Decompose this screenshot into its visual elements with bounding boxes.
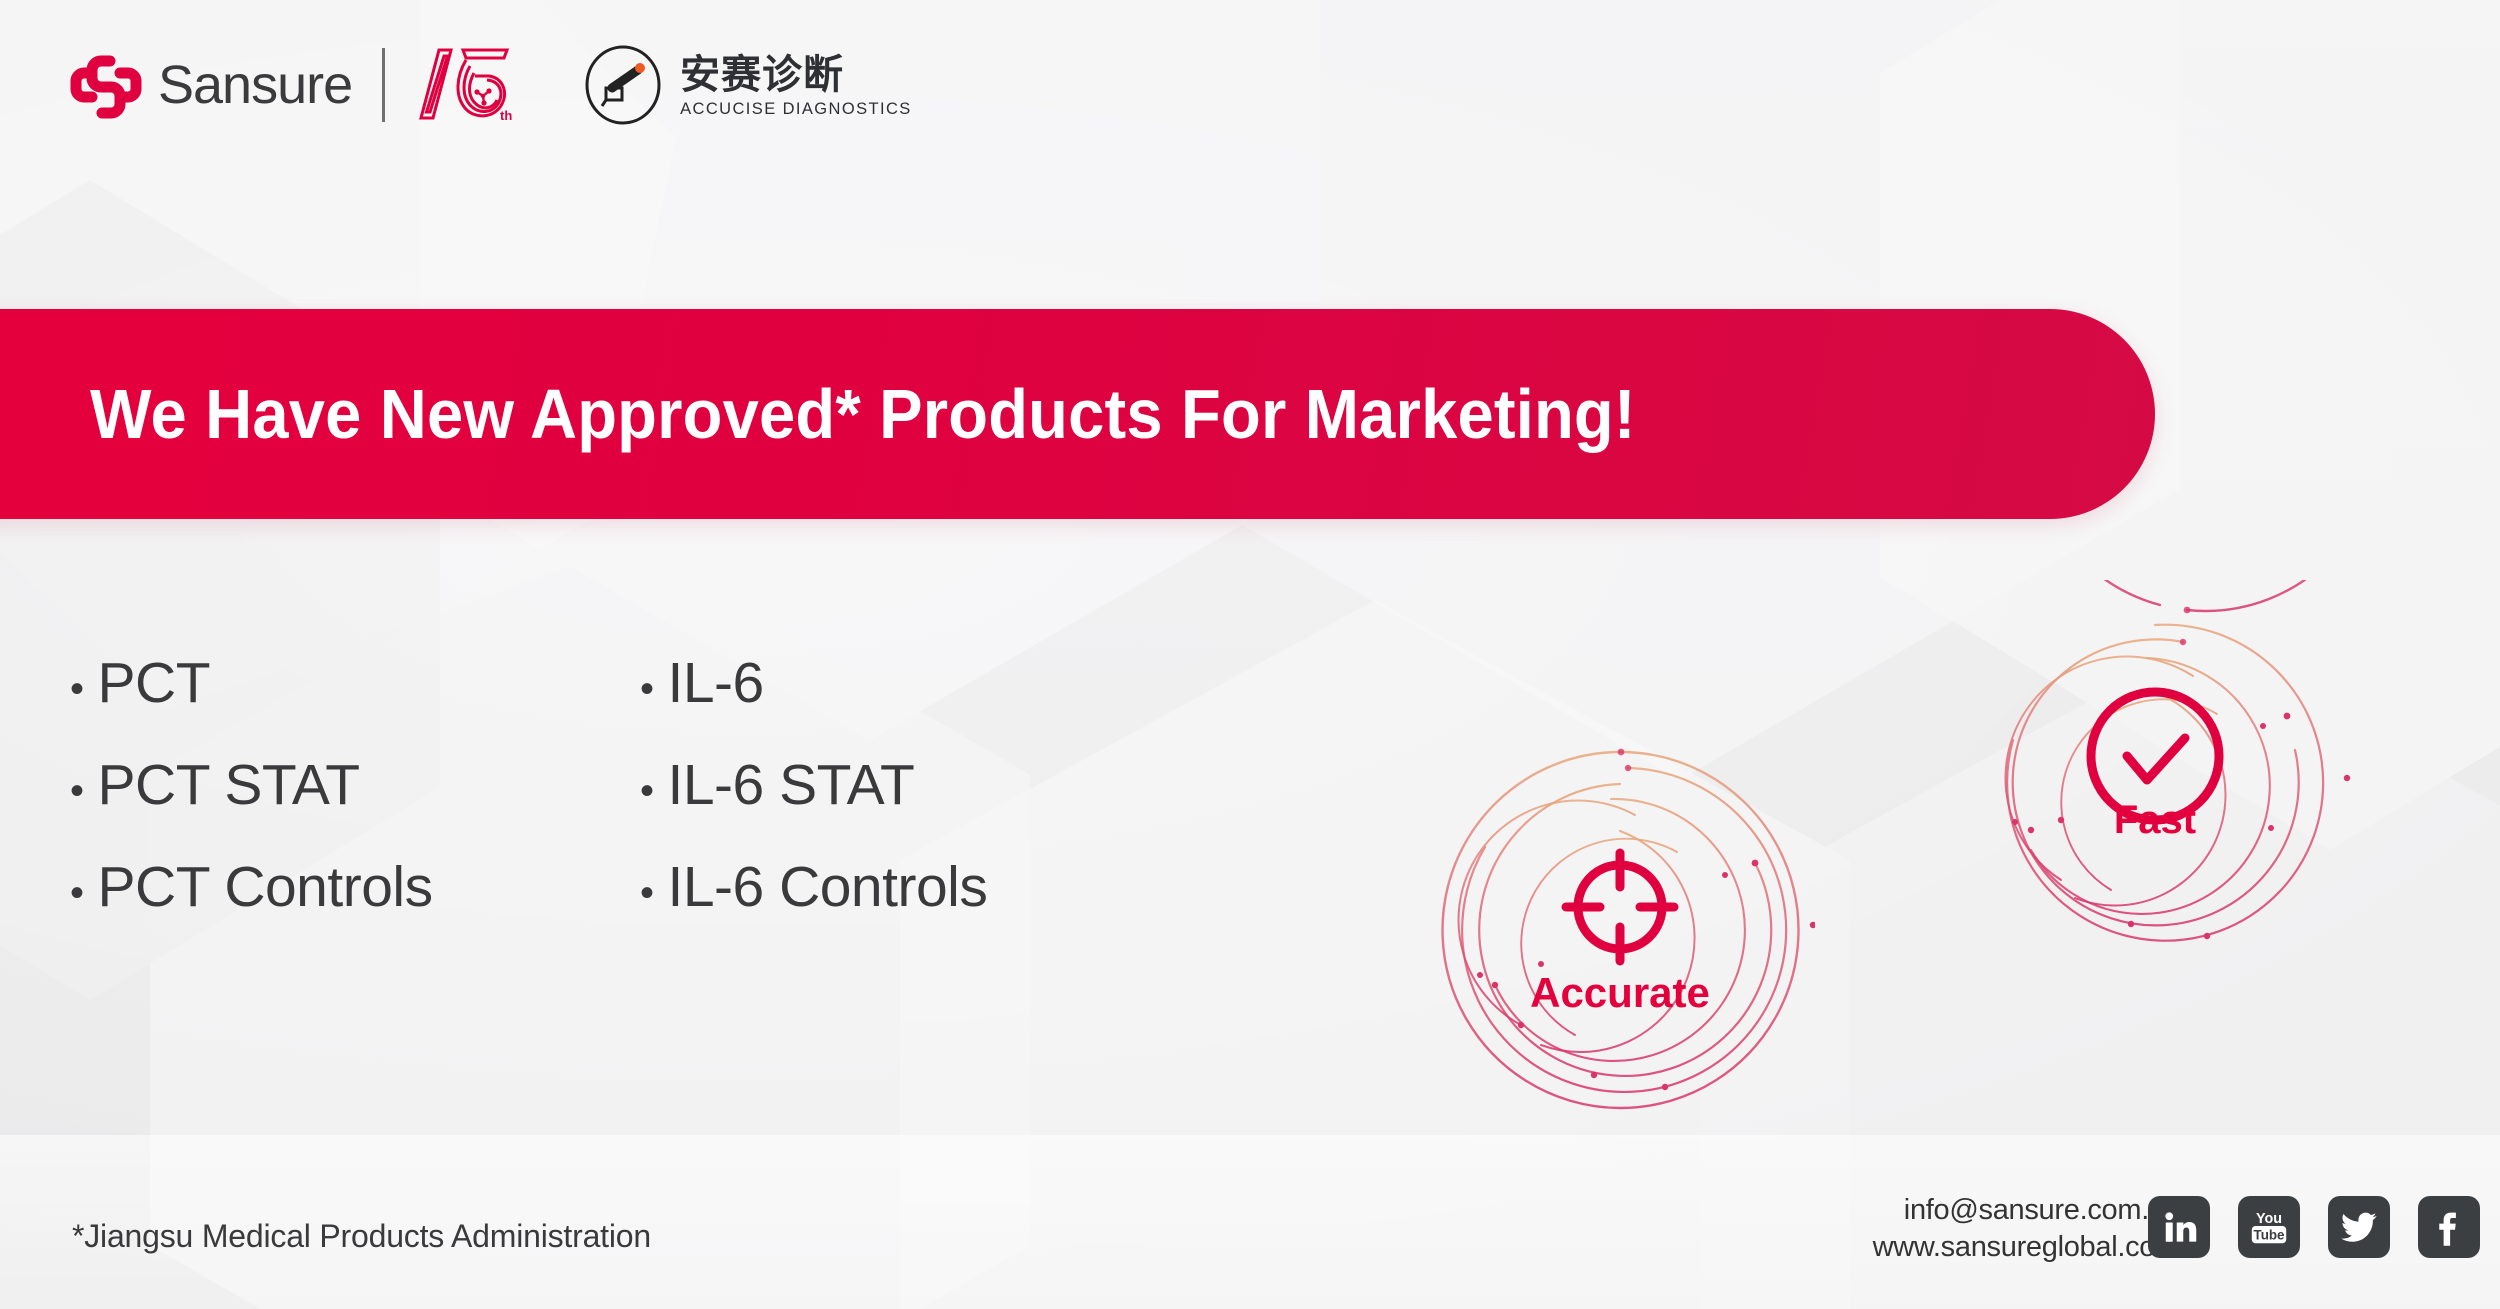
partner-name-cn: 安赛诊断 [680, 52, 912, 96]
contact-website[interactable]: www.sansureglobal.com [1873, 1229, 2179, 1266]
svg-text:安赛诊断: 安赛诊断 [680, 52, 844, 96]
contact-block: info@sansure.com.cn www.sansureglobal.co… [1873, 1192, 2179, 1266]
bullet-icon: • [640, 873, 654, 913]
feature-badge-label: Fast [1955, 798, 2355, 843]
bullet-icon: • [70, 669, 84, 709]
feature-badge-accurate: Accurate [1425, 735, 1815, 1125]
product-column-pct: • PCT • PCT STAT • PCT Controls [70, 655, 640, 961]
poster-canvas: Sansure [0, 0, 2500, 1309]
list-item-label: IL-6 [668, 655, 764, 712]
bullet-icon: • [640, 669, 654, 709]
svg-text:Tube: Tube [2254, 1227, 2285, 1242]
headline-text: We Have New Approved* Products For Marke… [90, 379, 1636, 449]
list-item-label: IL-6 STAT [668, 757, 915, 814]
footnote-text: *Jiangsu Medical Products Administration [72, 1218, 651, 1255]
partner-logo: 安赛诊断 ACCUCISE DIAGNOSTICS [582, 44, 912, 126]
list-item: • PCT STAT [70, 757, 640, 814]
youtube-icon[interactable]: You Tube [2238, 1196, 2300, 1258]
bullet-icon: • [70, 873, 84, 913]
bullet-icon: • [70, 771, 84, 811]
list-item: • PCT Controls [70, 859, 640, 916]
feature-badge-label: Accurate [1425, 969, 1815, 1017]
contact-email[interactable]: info@sansure.com.cn [1873, 1192, 2179, 1229]
accucise-circle-mark-icon [582, 44, 664, 126]
feature-badge-fast: Fast [1955, 580, 2355, 980]
svg-text:th: th [500, 108, 512, 123]
list-item: • IL-6 Controls [640, 859, 987, 916]
brand-header: Sansure [70, 40, 912, 130]
headline-banner: We Have New Approved* Products For Marke… [0, 309, 2155, 519]
anniversary-15th-icon: th [411, 44, 516, 126]
list-item: • PCT [70, 655, 640, 712]
twitter-icon[interactable] [2328, 1196, 2390, 1258]
list-item-label: PCT STAT [98, 757, 360, 814]
product-column-il6: • IL-6 • IL-6 STAT • IL-6 Controls [640, 655, 987, 961]
list-item: • IL-6 [640, 655, 987, 712]
bullet-icon: • [640, 771, 654, 811]
list-item-label: PCT [98, 655, 211, 712]
social-links: You Tube [2148, 1196, 2480, 1258]
partner-name-en: ACCUCISE DIAGNOSTICS [680, 100, 912, 119]
brand-wordmark: Sansure [158, 58, 352, 112]
product-lists: • PCT • PCT STAT • PCT Controls • IL-6 •… [70, 655, 987, 961]
list-item-label: PCT Controls [98, 859, 433, 916]
list-item: • IL-6 STAT [640, 757, 987, 814]
logo-divider [382, 48, 385, 122]
sansure-cross-mark-icon [70, 48, 142, 122]
linkedin-icon[interactable] [2148, 1196, 2210, 1258]
list-item-label: IL-6 Controls [668, 859, 988, 916]
facebook-icon[interactable] [2418, 1196, 2480, 1258]
svg-text:You: You [2256, 1211, 2282, 1227]
